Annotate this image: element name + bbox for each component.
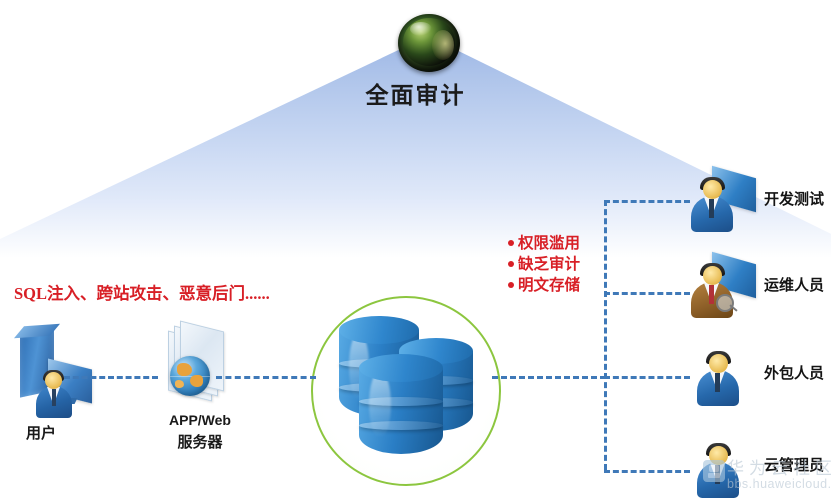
user-workstation-icon: [6, 328, 92, 418]
bullet-dot-icon: [508, 282, 514, 288]
web-server-icon: [158, 324, 244, 404]
magnifier-icon: [716, 294, 734, 312]
camera-lens-icon: [398, 14, 460, 72]
watermark-url: bbs.huaweicloud.com: [727, 477, 831, 491]
node-label-appweb-line2: 服务器: [140, 431, 260, 452]
actor-outsourced: 外包人员: [682, 346, 822, 408]
threat-vector-text: SQL注入、跨站攻击、恶意后门......: [14, 280, 270, 304]
connector-server-to-db: [216, 376, 316, 379]
database-cluster-icon: [311, 296, 501, 486]
actor-label-ops: 运维人员: [764, 274, 824, 295]
risk-item: 权限滥用: [508, 233, 580, 254]
page-title: 全面审计: [0, 76, 831, 110]
risk-label: 明文存储: [518, 277, 580, 294]
connector-branch-ops: [604, 292, 690, 295]
connector-user-to-server: [64, 376, 158, 379]
risk-label: 权限滥用: [518, 235, 580, 252]
actor-label-outsourced: 外包人员: [764, 362, 824, 383]
risk-list: 权限滥用 缺乏审计 明文存储: [508, 233, 580, 296]
node-label-appweb-line1: APP/Web: [140, 412, 260, 428]
bullet-dot-icon: [508, 261, 514, 267]
watermark-brand: 华为云社区: [727, 454, 831, 479]
watermark: 华为云社区 bbs.huaweicloud.com: [703, 448, 831, 494]
risk-item: 明文存储: [508, 275, 580, 296]
node-label-user: 用户: [6, 422, 76, 443]
diagram-canvas: 全面审计 SQL注入、跨站攻击、恶意后门...... 用户 APP/Web 服务…: [0, 0, 831, 501]
bullet-dot-icon: [508, 240, 514, 246]
actor-dev-test: 开发测试: [682, 172, 822, 234]
connector-branch-dev-test: [604, 200, 690, 203]
connector-branch-cloud-admin: [604, 470, 690, 473]
connector-branch-outsourced: [604, 376, 690, 379]
connector-trunk-vertical: [604, 200, 607, 470]
risk-label: 缺乏审计: [518, 256, 580, 273]
actor-label-dev-test: 开发测试: [764, 188, 824, 209]
actor-ops: 运维人员: [682, 258, 822, 320]
risk-item: 缺乏审计: [508, 254, 580, 275]
connector-db-to-trunk: [492, 376, 606, 379]
huawei-cloud-logo-icon: [703, 460, 725, 482]
